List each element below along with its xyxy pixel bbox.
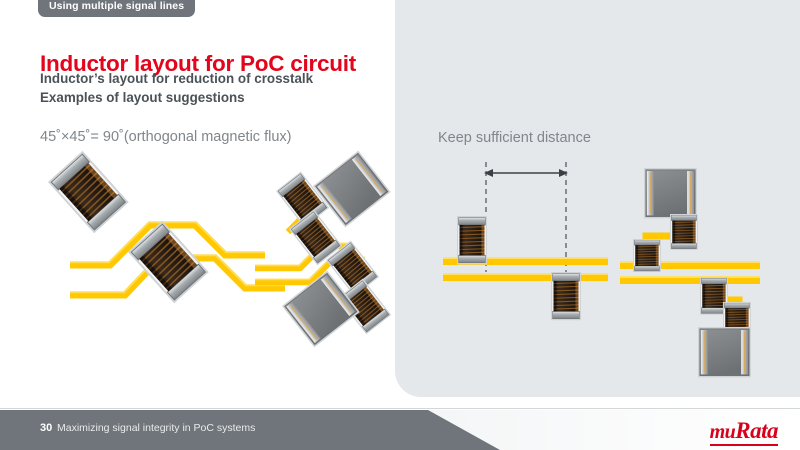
- topic-badge: Using multiple signal lines: [38, 0, 195, 17]
- chip-component: [313, 151, 391, 228]
- right-panel-caption: Keep sufficient distance: [438, 131, 591, 146]
- left-group-orthogonal: [255, 151, 391, 348]
- subtitle-line-1: Inductor’s layout for reduction of cross…: [40, 70, 313, 89]
- inductor-component: [633, 239, 661, 272]
- inductor-component: [48, 151, 129, 233]
- left-panel-caption: 45˚×45˚= 90˚(orthogonal magnetic flux): [40, 130, 291, 145]
- inductor-component: [457, 216, 487, 264]
- right-group-staggered: [620, 168, 760, 377]
- subtitle-line-2: Examples of layout suggestions: [40, 89, 313, 108]
- footer-page-number: 30: [40, 423, 52, 434]
- slide-canvas: Using multiple signal lines Inductor lay…: [0, 0, 800, 450]
- footer-divider: [0, 408, 800, 409]
- inductor-component: [551, 272, 581, 320]
- chip-component: [644, 168, 697, 218]
- logo-prefix: mu: [710, 421, 736, 443]
- chip-component: [698, 327, 751, 377]
- left-group-diagonal-pair: [48, 151, 285, 303]
- dimension-arrow: [484, 169, 568, 177]
- right-group-keep-distance: [443, 162, 608, 320]
- inductor-component: [670, 214, 698, 250]
- logo-suffix: Rata: [735, 418, 778, 443]
- footer-deck-title: Maximizing signal integrity in PoC syste…: [57, 423, 255, 434]
- page-subtitle: Inductor’s layout for reduction of cross…: [40, 70, 313, 107]
- murata-logo: muRata: [710, 419, 778, 442]
